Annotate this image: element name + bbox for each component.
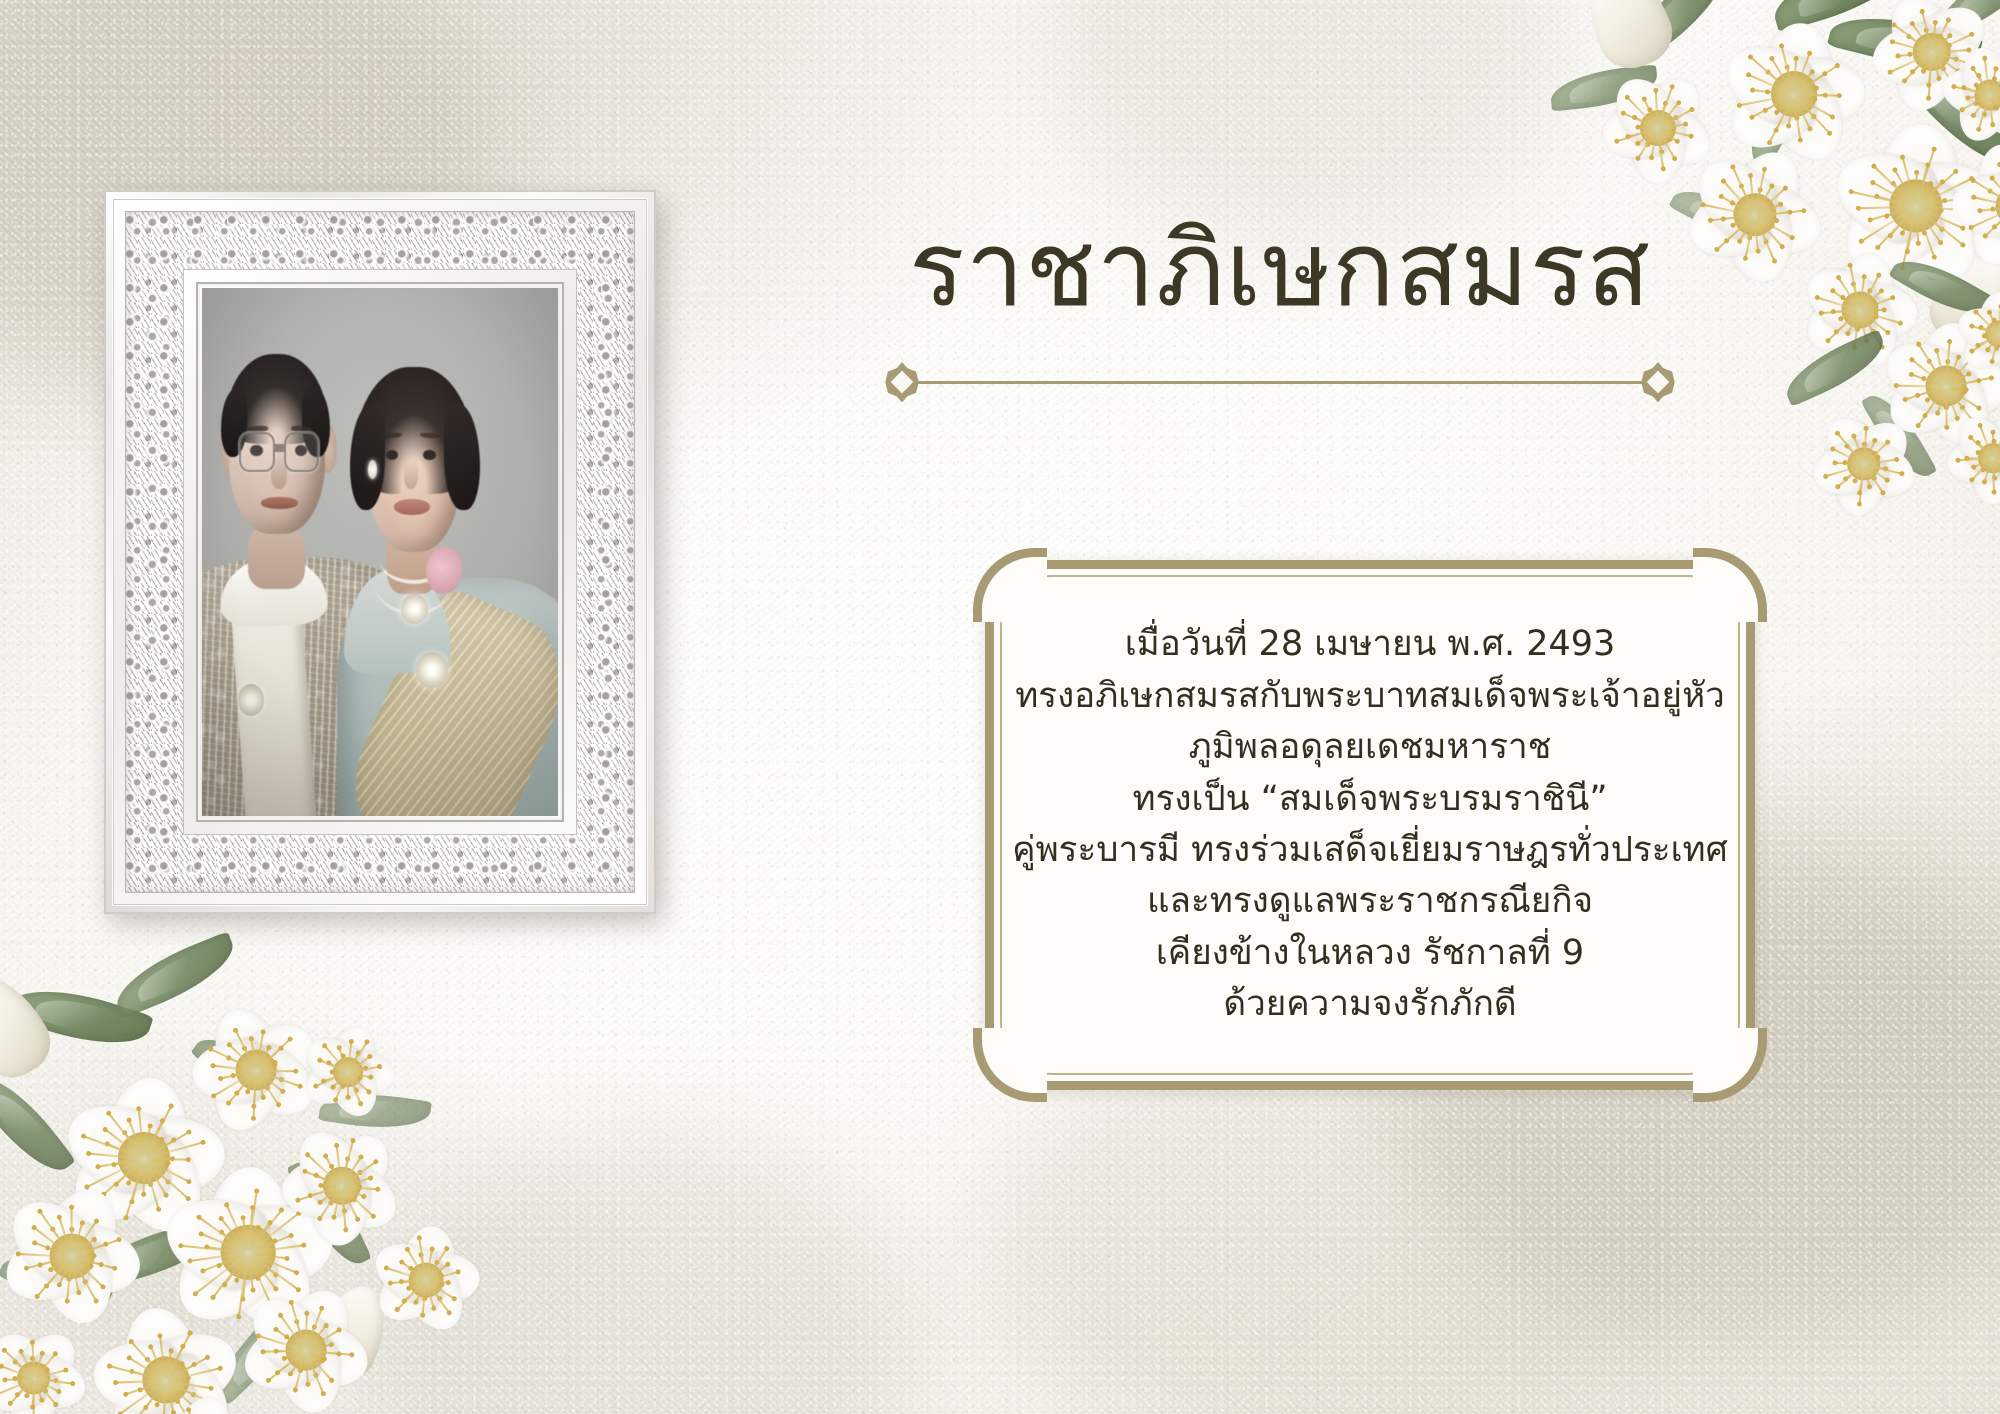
panel-text-body: เมื่อวันที่ 28 เมษายน พ.ศ. 2493 ทรงอภิเษ… [985,560,1755,1090]
panel-line: ทรงอภิเษกสมรสกับพระบาทสมเด็จพระเจ้าอยู่ห… [1015,671,1725,722]
panel-line: ทรงเป็น “สมเด็จพระบรมราชินี” [1133,774,1608,825]
divider-rule [902,381,1658,384]
diamond-ornament-icon [1636,360,1680,404]
panel-line: และทรงดูแลพระราชกรณียกิจ [1147,876,1593,927]
title-block: ราชาภิเษกสมรส [700,214,1860,404]
royal-couple-photograph [202,288,558,816]
framed-portrait [104,190,656,914]
photo-soft-overlay [202,288,558,816]
panel-line: เคียงข้างในหลวง รัชกาลที่ 9 [1156,928,1584,979]
diamond-ornament-icon [880,360,924,404]
panel-line: ด้วยความจงรักภักดี [1223,979,1516,1030]
panel-line: คู่พระบารมี ทรงร่วมเสด็จเยี่ยมราษฎรทั่วป… [1012,825,1728,876]
title-divider [880,360,1680,404]
card-canvas: ราชาภิเษกสมรส เมื่อวันที่ 28 เมษายน พ.ศ.… [0,0,2000,1414]
page-title: ราชาภิเษกสมรส [700,214,1860,324]
panel-line: เมื่อวันที่ 28 เมษายน พ.ศ. 2493 [1125,619,1616,670]
panel-line: ภูมิพลอดุลยเดชมหาราช [1189,722,1552,773]
description-panel: เมื่อวันที่ 28 เมษายน พ.ศ. 2493 ทรงอภิเษ… [985,560,1755,1090]
